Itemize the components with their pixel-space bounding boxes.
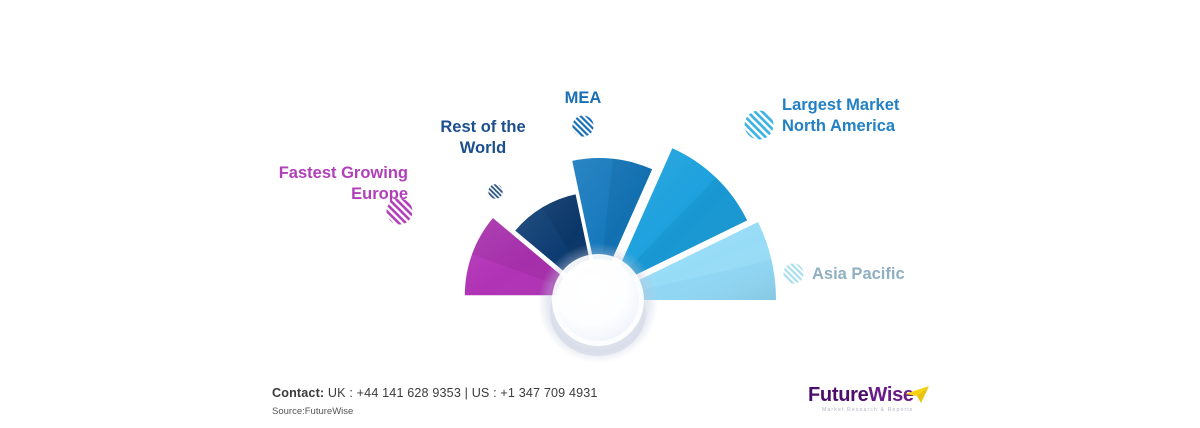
north-america-marker-icon	[744, 110, 774, 140]
mea-marker-icon	[572, 115, 594, 137]
regional-market-share-chart: Fastest Growing Europe Rest of the World…	[0, 0, 1200, 370]
source-line: Source:FutureWise	[272, 406, 353, 417]
label-mea: MEA	[540, 88, 626, 109]
contact-label: Contact:	[272, 386, 324, 400]
label-north-america: Largest Market North America	[782, 95, 924, 137]
asia-pacific-marker-icon	[783, 263, 804, 284]
futurewise-logo: FutureWise Market Research & Reports	[808, 384, 928, 418]
label-asia-pacific-line1: Asia Pacific	[812, 264, 905, 285]
label-north-america-line1: Largest Market	[782, 95, 924, 116]
contact-value: UK : +44 141 628 9353 | US : +1 347 709 …	[324, 386, 597, 400]
infographic-page: Fastest Growing Europe Rest of the World…	[0, 0, 1200, 428]
label-europe: Fastest Growing Europe	[258, 163, 408, 205]
footer: Contact: UK : +44 141 628 9353 | US : +1…	[0, 370, 1200, 428]
contact-line: Contact: UK : +44 141 628 9353 | US : +1…	[272, 386, 598, 400]
hub-disc	[557, 259, 639, 341]
label-europe-line1: Fastest Growing	[258, 163, 408, 184]
label-asia-pacific: Asia Pacific	[812, 264, 905, 285]
label-north-america-line2: North America	[782, 116, 924, 137]
logo-tagline: Market Research & Reports	[822, 407, 914, 413]
label-rest-of-world-line2: World	[412, 138, 554, 159]
paper-plane-icon	[904, 385, 930, 405]
label-rest-of-world-line1: Rest of the	[412, 117, 554, 138]
label-europe-line2: Europe	[258, 184, 408, 205]
label-mea-line1: MEA	[540, 88, 626, 109]
logo-word-future: Future	[808, 384, 868, 406]
rest-of-world-marker-icon	[488, 184, 503, 199]
label-rest-of-world: Rest of the World	[412, 117, 554, 159]
pie-chart-svg	[0, 0, 1200, 370]
logo-wordmark: FutureWise	[808, 384, 914, 407]
